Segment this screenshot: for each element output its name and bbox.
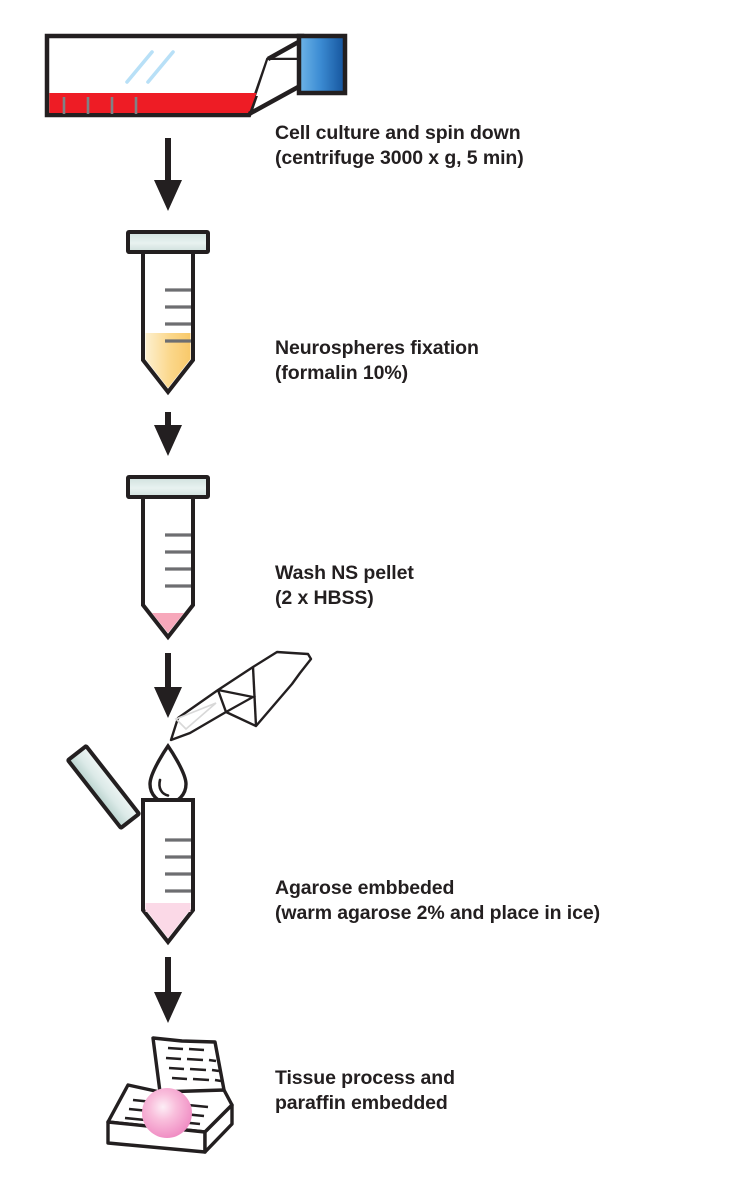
- step-label-neurospheres-fixation: Neurospheres fixation (formalin 10%): [275, 336, 479, 386]
- step-label-line: Neurospheres fixation: [275, 336, 479, 361]
- pipette-icon: [171, 652, 311, 740]
- flow-arrow-1: [154, 138, 182, 211]
- step-label-line: Agarose embbeded: [275, 876, 600, 901]
- conical-tube-fixative-icon: [128, 232, 208, 392]
- flask-cap-icon: [299, 36, 345, 93]
- embedded-neurosphere: [142, 1088, 192, 1138]
- step-label-line: (formalin 10%): [275, 361, 479, 386]
- droplet-icon: [150, 746, 186, 803]
- step-label-line: (2 x HBSS): [275, 586, 414, 611]
- step-label-agarose-embedded: Agarose embbeded (warm agarose 2% and pl…: [275, 876, 600, 926]
- flow-arrow-4: [154, 957, 182, 1023]
- step-label-cell-culture: Cell culture and spin down (centrifuge 3…: [275, 121, 524, 171]
- step-label-line: Tissue process and: [275, 1066, 455, 1091]
- tube-open-cap-icon: [68, 746, 139, 828]
- flow-arrow-2: [154, 412, 182, 456]
- step-label-line: Cell culture and spin down: [275, 121, 524, 146]
- step-label-tissue-process: Tissue process and paraffin embedded: [275, 1066, 455, 1116]
- conical-tube-pellet-icon: [128, 477, 208, 637]
- step-label-line: Wash NS pellet: [275, 561, 414, 586]
- histology-cassette-icon: [108, 1038, 232, 1152]
- tube-cap-icon: [128, 232, 208, 252]
- workflow-diagram: Cell culture and spin down (centrifuge 3…: [0, 0, 734, 1200]
- culture-flask-icon: [47, 36, 345, 115]
- flow-arrow-3: [154, 653, 182, 718]
- tube-cap-icon: [128, 477, 208, 497]
- step-label-line: (warm agarose 2% and place in ice): [275, 901, 600, 926]
- step-label-wash-ns-pellet: Wash NS pellet (2 x HBSS): [275, 561, 414, 611]
- step-label-line: paraffin embedded: [275, 1091, 455, 1116]
- step-label-line: (centrifuge 3000 x g, 5 min): [275, 146, 524, 171]
